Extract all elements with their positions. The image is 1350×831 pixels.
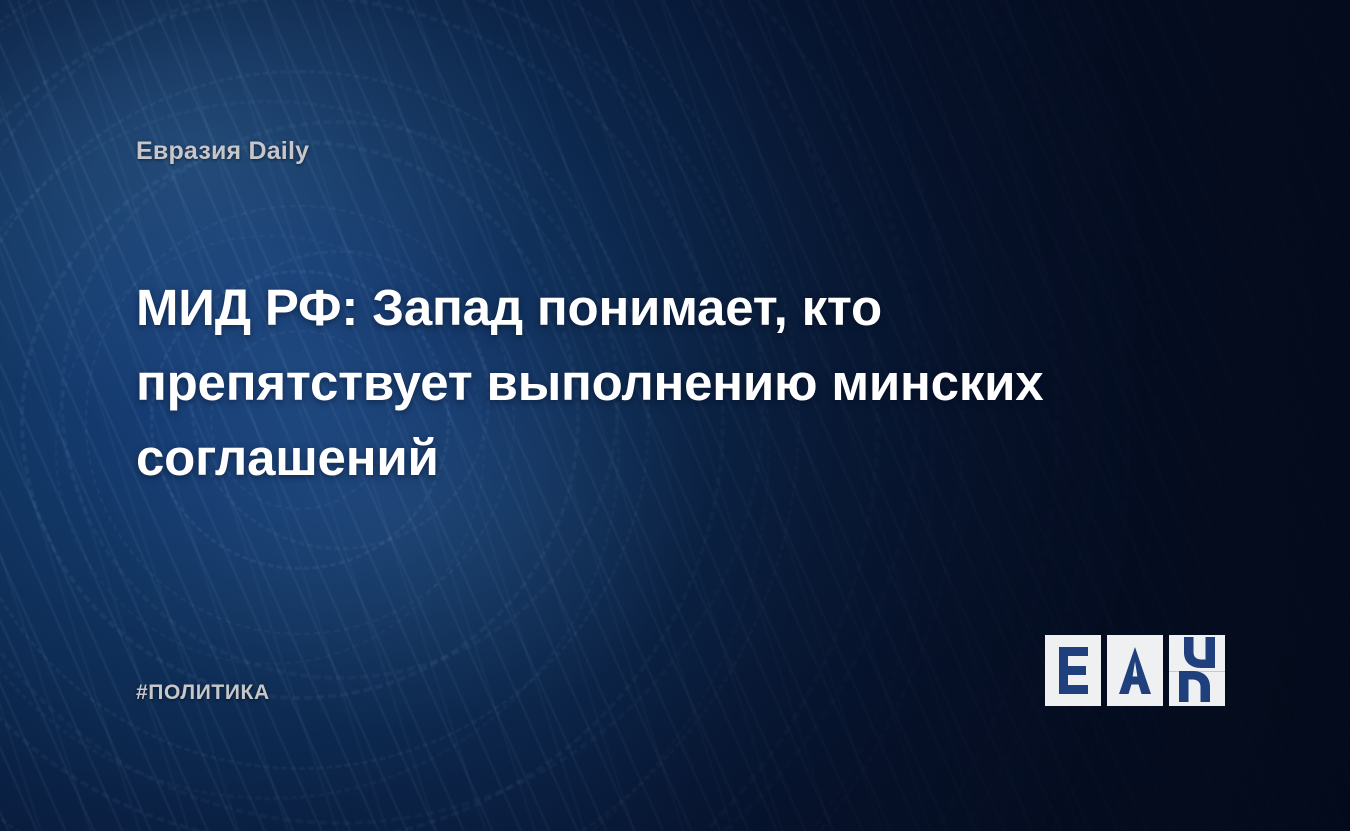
headline-line-3: соглашений (136, 420, 1136, 495)
eadaily-logo (1045, 635, 1225, 706)
letter-a-icon (1107, 635, 1163, 706)
logo-d-seam (1169, 671, 1225, 672)
letter-e-icon (1045, 635, 1101, 706)
logo-tile-d (1169, 635, 1225, 706)
headline: МИД РФ: Запад понимает, кто препятствует… (136, 270, 1136, 495)
card-content: Евразия Daily МИД РФ: Запад понимает, кт… (0, 0, 1350, 831)
logo-tile-a (1107, 635, 1163, 706)
hashtag-politika: #ПОЛИТИКА (136, 681, 270, 705)
social-share-card: Евразия Daily МИД РФ: Запад понимает, кт… (0, 0, 1350, 831)
headline-line-1: МИД РФ: Запад понимает, кто (136, 270, 1136, 345)
brand-name: Евразия Daily (136, 137, 309, 166)
logo-tile-e (1045, 635, 1101, 706)
headline-line-2: препятствует выполнению минских (136, 345, 1136, 420)
